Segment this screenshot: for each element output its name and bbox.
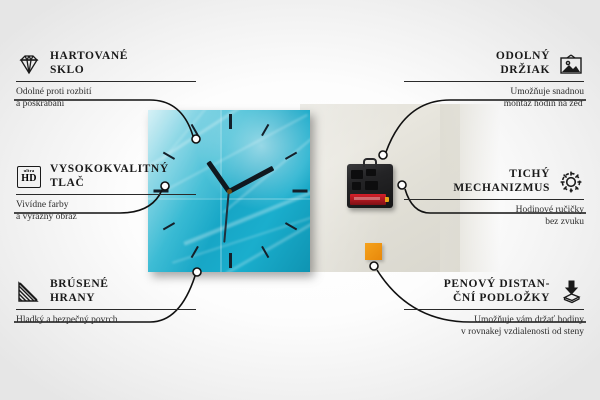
feature-title-line: TLAČ (50, 177, 84, 191)
hanging-hook-icon (363, 158, 377, 167)
feature-title-line: VYSOKOKVALITNÝ (50, 163, 169, 177)
feature-desc-line: a výrazný obraz (16, 211, 196, 223)
battery (350, 194, 386, 205)
clock-mechanism (347, 164, 393, 208)
feature-desc-line: Hodinové ručičky (404, 204, 584, 216)
infographic-stage: HARTOVANÉ SKLO Odolné proti rozbití a po… (0, 0, 600, 400)
feature-desc-line: Vivídne farby (16, 199, 196, 211)
feature-desc-line: Umožňuje vám držať hodiny (404, 314, 584, 326)
feature-title-line: MECHANIZMUS (453, 182, 550, 196)
feature-desc-line: Umožňuje snadnou (404, 86, 584, 98)
feature-title-line: TICHÝ (509, 168, 550, 182)
picture-frame-icon (558, 51, 584, 77)
hatched-corner-icon (16, 279, 42, 305)
feature-desc-line: Odolné proti rozbití (16, 86, 196, 98)
feature-durable-holder: ODOLNÝ DRŽIAK Umožňuje snadnou montáž ho… (404, 50, 584, 110)
feature-desc-line: bez zvuku (404, 216, 584, 228)
feature-title-line: HARTOVANÉ (50, 50, 128, 64)
feature-title-line: PENOVÝ DISTAN- (444, 278, 550, 292)
feature-desc-line: Hladký a bezpečný povrch (16, 314, 196, 326)
feature-desc-line: a poškrábání (16, 98, 196, 110)
stacked-arrow-icon (558, 279, 584, 305)
ultra-hd-icon: ultra HD (16, 164, 42, 190)
divider (16, 309, 196, 310)
diamond-icon (16, 51, 42, 77)
feature-high-quality-print: ultra HD VYSOKOKVALITNÝ TLAČ Vivídne far… (16, 163, 196, 223)
feature-foam-spacers: PENOVÝ DISTAN- ČNÍ PODLOŽKY Umožňuje vám… (404, 278, 584, 338)
feature-title-line: ČNÍ PODLOŽKY (453, 292, 550, 306)
divider (404, 199, 584, 200)
divider (16, 194, 196, 195)
feature-title-line: DRŽIAK (500, 64, 550, 78)
foam-spacer-pad (365, 243, 382, 260)
feature-ground-edges: BRÚSENÉ HRANY Hladký a bezpečný povrch (16, 278, 196, 326)
feature-desc-line: v rovnakej vzdialenosti od steny (404, 326, 584, 338)
feature-silent-mechanism: TICHÝ MECHANIZMUS Hodinové ručičky bez z… (404, 168, 584, 228)
feature-title-line: ODOLNÝ (496, 50, 550, 64)
feature-desc-line: montáž hodin na zeď (404, 98, 584, 110)
gear-icon (558, 169, 584, 195)
feature-title-line: SKLO (50, 64, 84, 78)
clock-center-cap (227, 189, 232, 194)
divider (404, 81, 584, 82)
divider (404, 309, 584, 310)
feature-title-line: BRÚSENÉ (50, 278, 109, 292)
divider (16, 81, 196, 82)
ultra-hd-icon-main-text: HD (21, 174, 37, 184)
feature-tempered-glass: HARTOVANÉ SKLO Odolné proti rozbití a po… (16, 50, 196, 110)
feature-title-line: HRANY (50, 292, 95, 306)
